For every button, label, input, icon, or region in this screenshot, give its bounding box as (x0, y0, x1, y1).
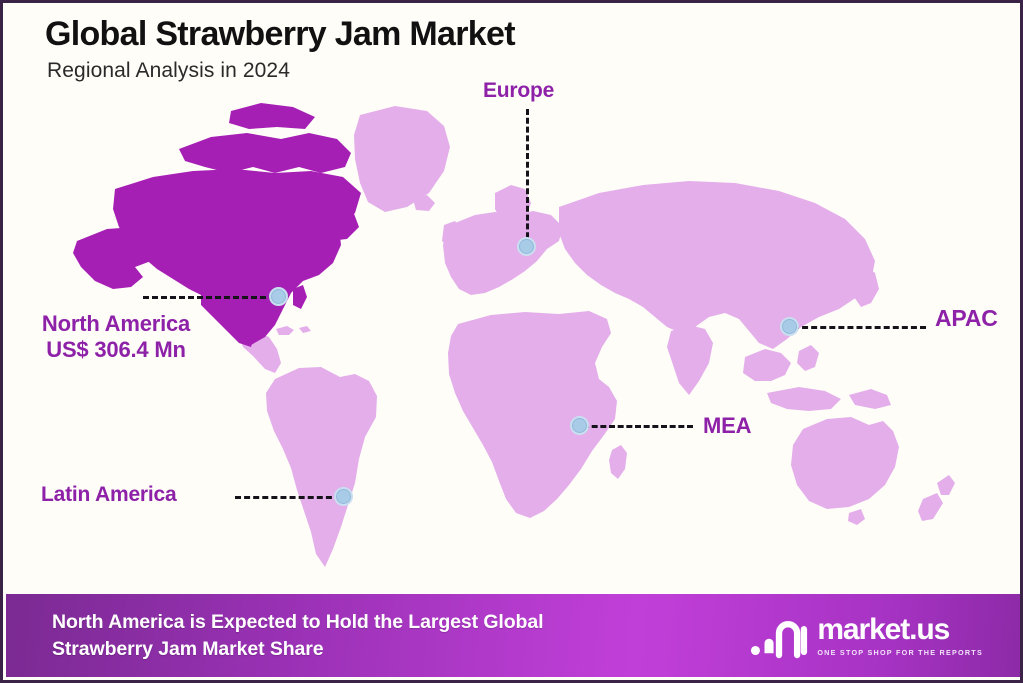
region-caribbean (276, 326, 294, 335)
bottom-banner: North America is Expected to Hold the La… (6, 594, 1023, 677)
region-southeast-asia (743, 349, 791, 381)
region-caribbean-2 (299, 326, 311, 333)
region-europe (443, 211, 563, 295)
region-tasmania (848, 509, 865, 525)
region-label-europe-name: Europe (483, 79, 554, 104)
map-marker-apac[interactable] (780, 317, 799, 336)
leader-line-apac (793, 326, 926, 329)
leader-line-latin-america (235, 496, 341, 499)
leader-line-north-america (143, 296, 275, 299)
banner-headline-line2: Strawberry Jam Market Share (52, 636, 543, 662)
region-arctic-islands (229, 103, 315, 129)
leader-line-mea (583, 425, 693, 428)
leader-line-europe (526, 109, 529, 247)
region-new-zealand-2 (918, 493, 943, 521)
region-label-north-america-value: US$ 306.4 Mn (21, 337, 211, 363)
logo-tagline: ONE STOP SHOP FOR THE REPORTS (817, 649, 983, 656)
region-label-north-america[interactable]: North America US$ 306.4 Mn (21, 311, 211, 363)
region-label-north-america-name: North America (21, 311, 211, 337)
region-madagascar (609, 445, 627, 479)
banner-headline-line1: North America is Expected to Hold the La… (52, 609, 543, 635)
region-greenland (354, 106, 450, 212)
region-philippines (797, 345, 819, 371)
region-canada-islands (179, 133, 351, 173)
map-marker-latin-america[interactable] (334, 487, 353, 506)
region-papua-new-guinea (849, 389, 891, 409)
market-us-bars-icon (750, 613, 808, 659)
region-label-apac[interactable]: APAC (935, 305, 998, 332)
region-label-latin-america-name: Latin America (41, 483, 177, 508)
page-title: Global Strawberry Jam Market (45, 17, 515, 53)
region-australia (791, 417, 899, 509)
region-label-mea-name: MEA (703, 413, 751, 439)
region-label-latin-america[interactable]: Latin America (41, 483, 177, 508)
page-subtitle: Regional Analysis in 2024 (47, 59, 515, 83)
banner-headline: North America is Expected to Hold the La… (52, 609, 543, 662)
region-indonesia (767, 387, 841, 411)
region-florida (293, 285, 307, 309)
header: Global Strawberry Jam Market Regional An… (45, 17, 515, 83)
region-south-america (266, 367, 377, 567)
region-india (667, 325, 713, 395)
logo-name: market.us (817, 615, 983, 645)
region-label-europe[interactable]: Europe (483, 79, 554, 104)
map-marker-mea[interactable] (570, 416, 589, 435)
map-marker-europe[interactable] (517, 237, 536, 256)
region-africa (448, 311, 617, 518)
logo-text-block: market.us ONE STOP SHOP FOR THE REPORTS (817, 615, 983, 656)
region-label-mea[interactable]: MEA (703, 413, 751, 439)
region-new-zealand (937, 475, 955, 495)
map-marker-north-america[interactable] (269, 287, 288, 306)
region-label-apac-name: APAC (935, 305, 998, 332)
brand-logo[interactable]: market.us ONE STOP SHOP FOR THE REPORTS (750, 613, 999, 659)
infographic-root: Global Strawberry Jam Market Regional An… (0, 0, 1023, 683)
